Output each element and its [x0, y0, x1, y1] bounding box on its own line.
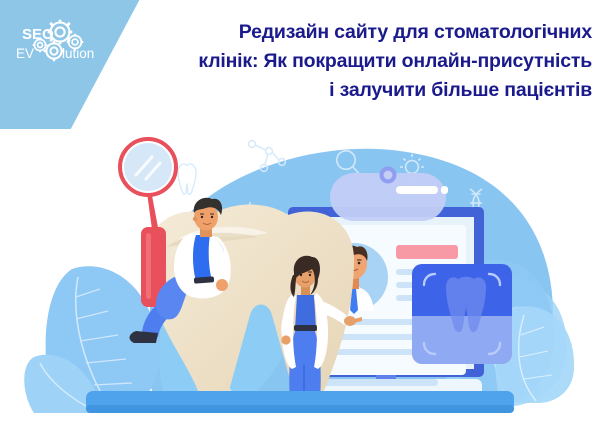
blue-top — [295, 295, 316, 329]
tooth-xray-panel[interactable] — [412, 264, 512, 364]
title-line-3: і залучити більше пацієнтів — [122, 76, 592, 105]
hand — [216, 279, 228, 291]
illustration-canvas — [0, 129, 600, 429]
logo-line1: SEO — [22, 26, 54, 43]
ground-platform-shadow — [86, 405, 514, 413]
card-accent-bar — [396, 245, 458, 259]
search-button — [441, 186, 448, 194]
mirror-handle-highlight — [146, 233, 151, 299]
title-line-1: Редизайн сайту для стоматологічних — [122, 18, 592, 47]
page-title: Редизайн сайту для стоматологічних кліні… — [122, 18, 592, 105]
belt — [294, 325, 317, 331]
title-line-2: клінік: Як покращити онлайн-присутність — [122, 47, 592, 76]
mirror-glass — [124, 143, 172, 191]
illustration — [0, 129, 600, 429]
logo-line2-tail: lution — [62, 46, 94, 61]
tooth-outline-icon — [178, 164, 196, 194]
shoe-back — [130, 331, 158, 343]
search-input — [396, 186, 438, 194]
poster: SEO EV lution Редизайн сайту для стомато… — [0, 0, 600, 429]
hand — [281, 335, 290, 344]
search-bar-widget[interactable] — [330, 167, 448, 222]
logo-seo-evolution[interactable]: SEO EV lution — [10, 17, 98, 65]
logo-line2: EV — [16, 46, 34, 61]
header: SEO EV lution Редизайн сайту для стомато… — [0, 0, 600, 129]
